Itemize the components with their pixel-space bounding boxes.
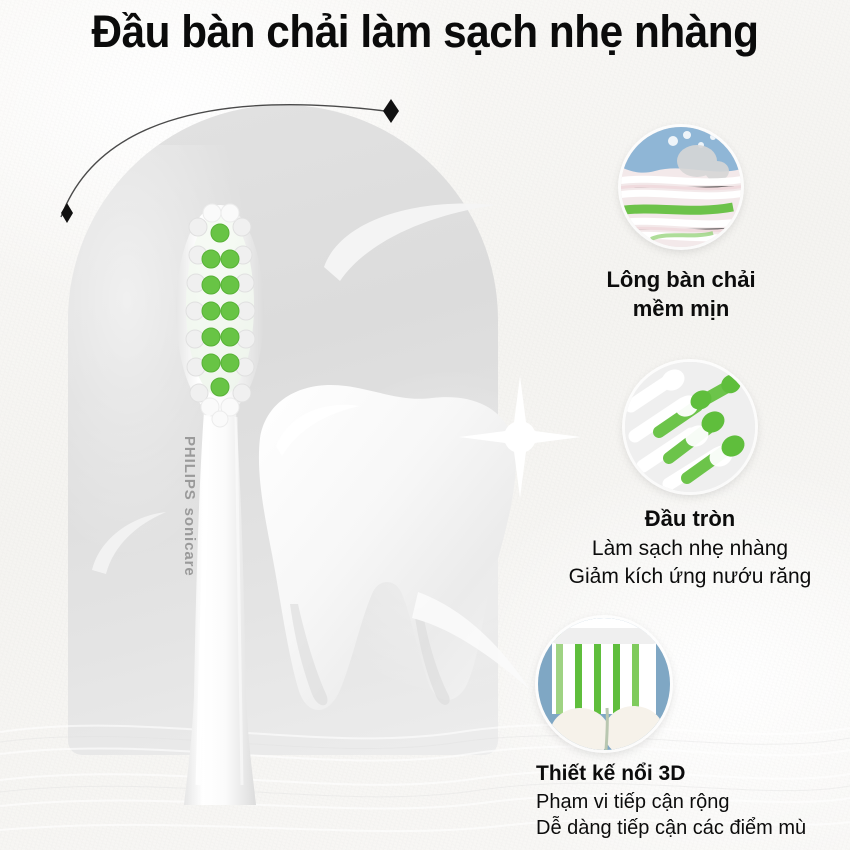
brand-philips: PHILIPS	[181, 436, 198, 501]
brand-label: PHILIPSsonicare	[164, 436, 198, 656]
callout-line: Dễ dàng tiếp cận các điểm mù	[536, 815, 846, 841]
callout-line: Làm sạch nhẹ nhàng	[540, 535, 840, 563]
bristle-closeup-water-image	[621, 127, 741, 247]
four-point-star-icon	[61, 203, 73, 223]
brand-sonicare: sonicare	[181, 508, 198, 577]
callout-line: Phạm vi tiếp cận rộng	[536, 789, 846, 815]
callout-3d-design[interactable]: Thiết kế nổi 3D Phạm vi tiếp cận rộng Dễ…	[536, 618, 846, 842]
page-title: Đầu bàn chải làm sạch nhẹ nhàng	[26, 8, 825, 55]
rounded-bristle-tips-image	[625, 362, 755, 492]
callout-3d-design-text: Thiết kế nổi 3D Phạm vi tiếp cận rộng Dễ…	[536, 760, 846, 842]
callout-heading: Lông bàn chải	[556, 265, 806, 294]
callout-soft-bristles-text: Lông bàn chải mềm mịn	[556, 265, 806, 323]
callout-heading: Đầu tròn	[540, 504, 840, 533]
product-infographic: PHILIPSsonicare	[0, 0, 850, 850]
callout-line: mềm mịn	[556, 294, 806, 323]
four-point-star-icon	[383, 99, 399, 123]
callout-rounded-tips[interactable]: Đầu tròn Làm sạch nhẹ nhàng Giảm kích ứn…	[540, 362, 840, 590]
callout-line: Giảm kích ứng nướu răng	[540, 563, 840, 591]
callout-soft-bristles[interactable]: Lông bàn chải mềm mịn	[556, 127, 806, 323]
callout-rounded-tips-text: Đầu tròn Làm sạch nhẹ nhàng Giảm kích ứn…	[540, 504, 840, 590]
3d-bristle-teeth-image	[538, 618, 670, 750]
callout-heading: Thiết kế nổi 3D	[536, 760, 846, 788]
sparkle-arc-decoration	[55, 85, 455, 225]
